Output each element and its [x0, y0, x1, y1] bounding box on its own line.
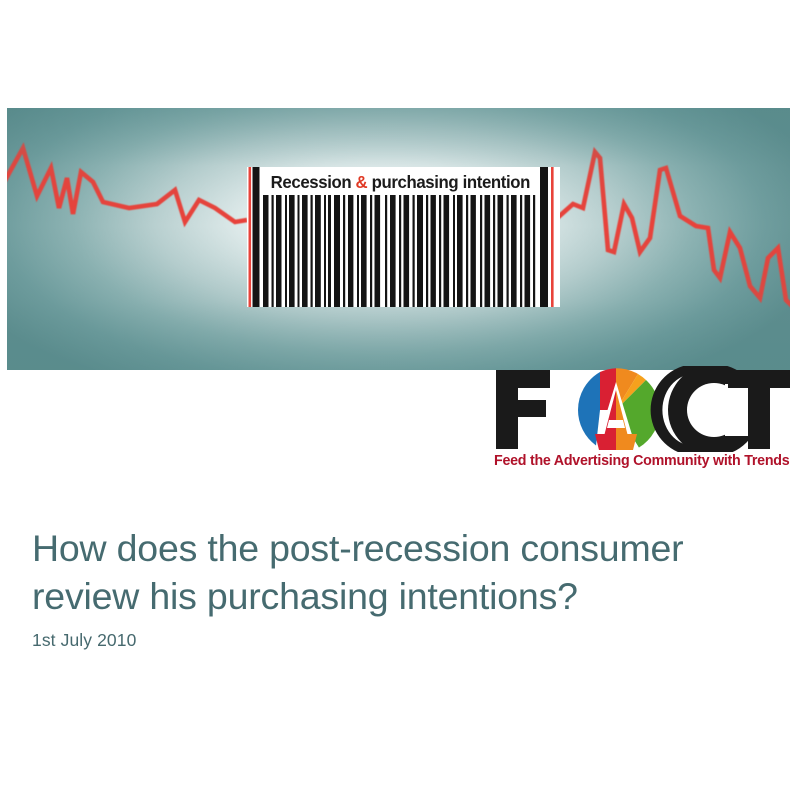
logo-letter-a-wheel-icon [578, 368, 660, 450]
fact-logo: Feed the Advertising Community with Tren… [492, 366, 792, 478]
barcode-label: Recession & purchasing intention [265, 170, 536, 195]
barcode-label-part2: purchasing intention [367, 172, 530, 192]
slide-canvas: Recession & purchasing intention [0, 0, 800, 800]
slide-date: 1st July 2010 [32, 629, 136, 651]
fact-logo-letters [492, 366, 792, 452]
fact-logo-letters-svg [492, 366, 792, 452]
barcode-label-part1: Recession [271, 172, 356, 192]
page-title-line-1: How does the post-recession consumer [32, 524, 762, 572]
barcode-graphic: Recession & purchasing intention [247, 167, 560, 307]
fact-logo-tagline: Feed the Advertising Community with Tren… [494, 453, 787, 469]
barcode-label-ampersand: & [356, 172, 368, 192]
logo-letter-f-icon [496, 370, 550, 449]
page-title-line-2: review his purchasing intentions? [32, 572, 762, 620]
page-title: How does the post-recession consumer rev… [32, 524, 762, 620]
banner-image: Recession & purchasing intention [7, 108, 790, 370]
